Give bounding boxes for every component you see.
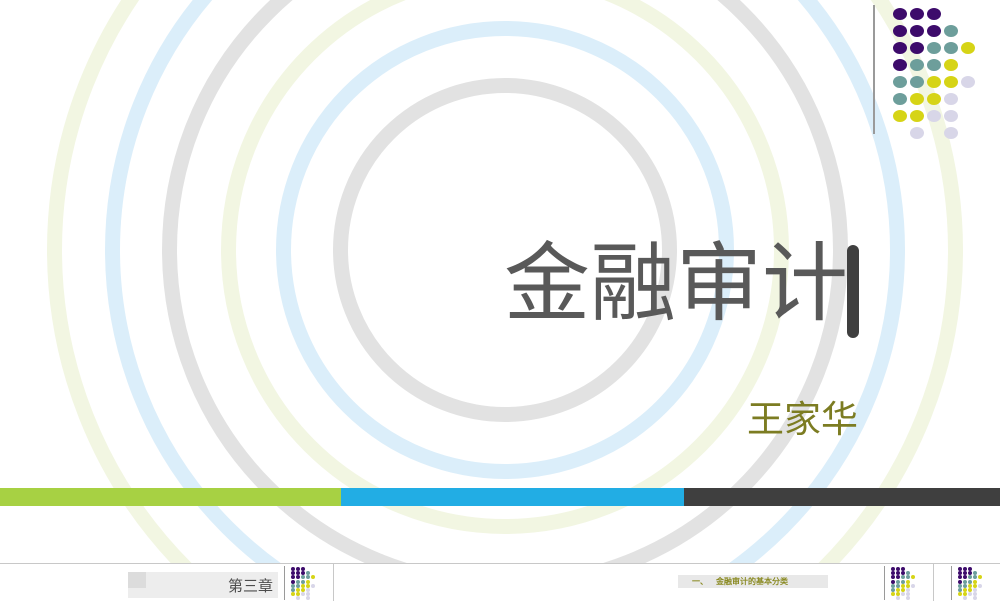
thumbnail-section-chip: 一、金融审计的基本分类 — [678, 575, 828, 588]
slide-author: 王家华 — [0, 397, 858, 443]
thumbnail-logo-dot — [973, 575, 977, 579]
thumbnail-logo-dot — [963, 575, 967, 579]
thumbnail-logo-dot — [968, 575, 972, 579]
thumbnail-title: 第三章 — [228, 575, 273, 596]
thumbnail-placeholder-square — [128, 572, 146, 588]
thumbnail-dot-matrix-rule — [284, 566, 285, 600]
thumbnail-logo-dot — [958, 592, 962, 596]
thumbnail-logo-dot — [291, 592, 295, 596]
logo-dot — [893, 42, 907, 54]
dot-matrix-logo — [893, 8, 997, 136]
thumb-chapter-3[interactable]: 第三章 — [100, 564, 334, 601]
thumbnail-logo-dot — [891, 575, 895, 579]
band-segment-dark — [684, 488, 1000, 506]
logo-dot — [910, 76, 924, 88]
dot-matrix-rule — [873, 5, 875, 134]
thumbnail-logo-dot — [906, 580, 910, 584]
thumbnail-section-label: 金融审计的基本分类 — [708, 576, 788, 587]
logo-dot — [927, 8, 941, 20]
logo-dot — [944, 25, 958, 37]
logo-dot — [944, 76, 958, 88]
thumbnail-logo-dot — [963, 580, 967, 584]
page-title: 金融审计 — [504, 236, 848, 332]
thumbnail-logo-dot — [896, 580, 900, 584]
thumbnail-logo-dot — [891, 580, 895, 584]
thumbnail-logo-dot — [911, 584, 915, 588]
thumbnail-logo-dot — [958, 580, 962, 584]
logo-dot — [927, 25, 941, 37]
thumbnail-logo-dot — [891, 592, 895, 596]
thumbnail-canvas — [934, 564, 1000, 601]
band-segment-blue — [341, 488, 684, 506]
logo-dot — [893, 59, 907, 71]
logo-dot — [944, 93, 958, 105]
thumbnail-logo-dot — [311, 584, 315, 588]
logo-dot — [910, 25, 924, 37]
logo-dot — [893, 93, 907, 105]
logo-dot — [944, 42, 958, 54]
thumbnail-logo-dot — [311, 575, 315, 579]
logo-dot — [944, 110, 958, 122]
logo-dot — [910, 127, 924, 139]
thumbnail-logo-dot — [291, 575, 295, 579]
logo-dot — [910, 110, 924, 122]
logo-dot — [910, 8, 924, 20]
slide-title-block: 金融审计 — [0, 236, 848, 332]
thumbnail-logo-dot — [301, 580, 305, 584]
thumb-next[interactable] — [934, 564, 1000, 601]
thumbnail-section-number: 一、 — [678, 576, 708, 587]
thumbnail-logo-dot — [911, 575, 915, 579]
logo-dot — [910, 59, 924, 71]
thumbnail-logo-dot — [958, 575, 962, 579]
slide-thumbnail-strip[interactable]: 第三章一、金融审计的基本分类 — [0, 563, 1000, 601]
thumbnail-logo-dot — [296, 575, 300, 579]
thumbnail-dot-matrix-rule — [884, 566, 885, 600]
logo-dot — [927, 76, 941, 88]
logo-dot — [893, 110, 907, 122]
logo-dot — [927, 42, 941, 54]
logo-dot — [893, 76, 907, 88]
thumbnail-logo-dot — [906, 575, 910, 579]
logo-dot — [893, 8, 907, 20]
thumbnail-logo-dot — [301, 575, 305, 579]
accent-color-band — [0, 488, 1000, 506]
logo-dot — [961, 76, 975, 88]
logo-dot — [927, 110, 941, 122]
thumbnail-logo-dot — [978, 575, 982, 579]
thumbnail-logo-dot — [901, 575, 905, 579]
logo-dot — [961, 42, 975, 54]
thumbnail-logo-dot — [973, 580, 977, 584]
thumbnail-logo-dot — [901, 592, 905, 596]
slide-canvas: 金融审计 王家华 — [0, 0, 1000, 563]
thumbnail-logo-dot — [306, 580, 310, 584]
logo-dot — [927, 59, 941, 71]
thumbnail-logo-dot — [296, 580, 300, 584]
logo-dot — [927, 93, 941, 105]
thumbnail-logo-dot — [968, 580, 972, 584]
logo-dot — [944, 59, 958, 71]
thumbnail-canvas: 第三章 — [100, 564, 333, 601]
thumbnail-dot-matrix-rule — [951, 566, 952, 600]
thumbnail-logo-dot — [306, 575, 310, 579]
title-accent-bar — [847, 245, 859, 338]
thumbnail-logo-dot — [978, 584, 982, 588]
logo-dot — [910, 42, 924, 54]
logo-dot — [893, 25, 907, 37]
logo-dot — [944, 127, 958, 139]
thumb-section-1[interactable]: 一、金融审计的基本分类 — [600, 564, 934, 601]
thumbnail-logo-dot — [301, 592, 305, 596]
band-segment-green — [0, 488, 341, 506]
thumbnail-logo-dot — [291, 580, 295, 584]
logo-dot — [910, 93, 924, 105]
thumbnail-logo-dot — [901, 580, 905, 584]
thumbnail-logo-dot — [968, 592, 972, 596]
thumbnail-logo-dot — [896, 575, 900, 579]
thumbnail-canvas: 一、金融审计的基本分类 — [600, 564, 933, 601]
